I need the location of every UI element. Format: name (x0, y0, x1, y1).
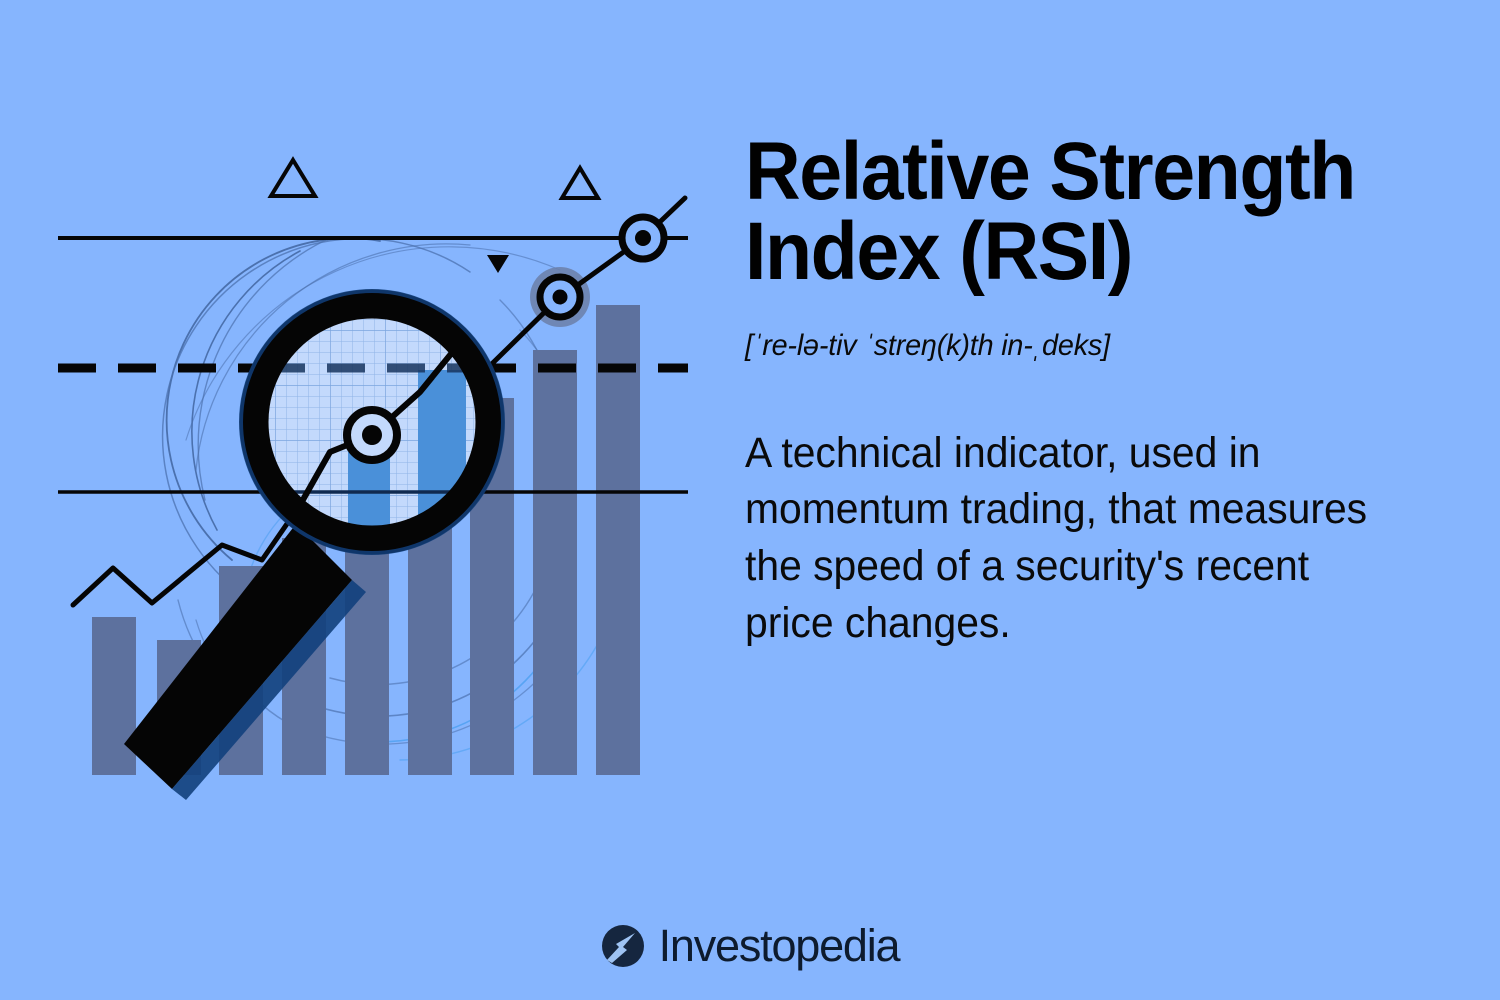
bar (92, 617, 136, 775)
investopedia-logo-mark (601, 924, 645, 968)
page-title: Relative Strength Index (RSI) (745, 132, 1422, 293)
datapoint-marker (540, 277, 580, 317)
infographic-card: Relative Strength Index (RSI) [ˈre-lə-ti… (0, 0, 1500, 1000)
brand-name: Investopedia (659, 923, 900, 968)
text-column: Relative Strength Index (RSI) [ˈre-lə-ti… (745, 132, 1465, 652)
definition-text: A technical indicator, used in momentum … (745, 425, 1372, 652)
bar (596, 305, 640, 775)
bar (533, 350, 577, 775)
triangle-up-icon (271, 160, 315, 196)
triangle-up-icon (562, 168, 598, 198)
brand-logo: Investopedia (0, 923, 1500, 968)
datapoint-marker-magnified (347, 410, 397, 460)
datapoint-marker (622, 217, 664, 259)
pronunciation-text: [ˈre-lə-tiv ˈstreŋ(k)th in-ˌdeks] (745, 329, 1436, 363)
rsi-chart-illustration (0, 0, 730, 900)
triangle-down-icon (487, 255, 509, 273)
